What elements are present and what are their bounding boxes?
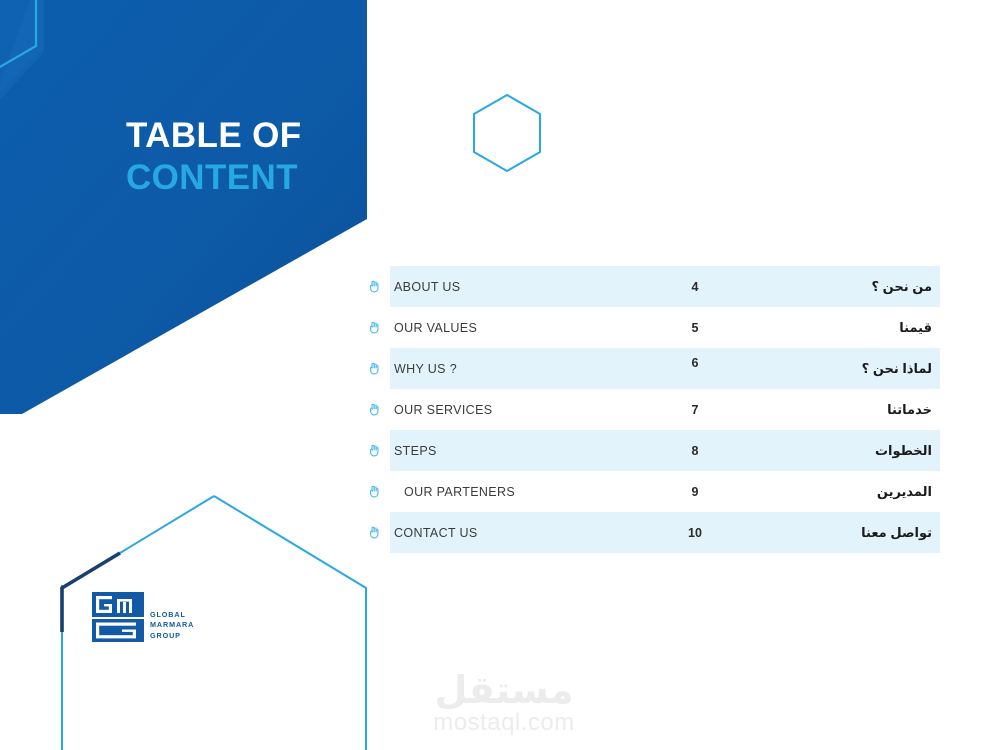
watermark-domain: mostaql.com (424, 710, 584, 736)
gmg-monogram-icon (92, 592, 144, 642)
pointing-hand-icon (366, 275, 390, 299)
table-row[interactable]: CONTACT US 10 تواصل معنا (366, 512, 940, 553)
pointing-hand-icon (366, 357, 390, 381)
pointing-hand-icon (366, 521, 390, 545)
toc-arabic-label: قيمنا (730, 320, 940, 336)
toc-english-label: OUR PARTENERS (390, 485, 660, 499)
page-title-line-1: TABLE OF (126, 118, 386, 153)
toc-arabic-label: تواصل معنا (730, 525, 940, 541)
pointing-hand-icon (366, 480, 390, 504)
page-title-line-2: CONTENT (126, 160, 386, 195)
toc-arabic-label: المديرين (730, 484, 940, 500)
slide-canvas: TABLE OF CONTENT ABOUT US 4 من نحن ؟ (0, 0, 1000, 750)
pointing-hand-icon (366, 316, 390, 340)
toc-page-number: 4 (660, 280, 730, 294)
table-row[interactable]: STEPS 8 الخطوات (366, 430, 940, 471)
toc-english-label: OUR SERVICES (390, 403, 660, 417)
hexagon-corner-outline-icon (0, 0, 36, 90)
table-of-contents: ABOUT US 4 من نحن ؟ OUR VALUES 5 قيمنا (366, 266, 940, 553)
pointing-hand-icon (366, 398, 390, 422)
toc-arabic-label: لماذا نحن ؟ (730, 361, 940, 377)
table-row[interactable]: ABOUT US 4 من نحن ؟ (366, 266, 940, 307)
panel-inner-wedge-shape (0, 0, 44, 92)
toc-arabic-label: من نحن ؟ (730, 279, 940, 295)
logo-line-1: GLOBAL (150, 610, 194, 620)
hexagon-large-outline-icon-topleft (120, 496, 214, 553)
panel-inner-wedge-shape-2 (0, 0, 44, 100)
toc-arabic-label: خدماتنا (730, 402, 940, 418)
pointing-hand-icon (366, 439, 390, 463)
hexagon-large-outline-icon-right (214, 496, 366, 750)
table-row[interactable]: OUR PARTENERS 9 المديرين (366, 471, 940, 512)
toc-page-number: 9 (660, 485, 730, 499)
toc-english-label: CONTACT US (390, 526, 660, 540)
toc-arabic-label: الخطوات (730, 443, 940, 459)
toc-english-label: WHY US ? (390, 362, 660, 376)
watermark-arabic: مستقل (424, 672, 584, 712)
toc-page-number: 5 (660, 321, 730, 335)
toc-page-number: 10 (660, 526, 730, 540)
toc-page-number: 7 (660, 403, 730, 417)
hexagon-outline-icon (474, 95, 540, 171)
table-row[interactable]: OUR SERVICES 7 خدماتنا (366, 389, 940, 430)
page-title: TABLE OF CONTENT (126, 118, 386, 195)
blue-panel-shape (0, 0, 367, 414)
toc-english-label: STEPS (390, 444, 660, 458)
logo-line-3: GROUP (150, 631, 194, 641)
toc-english-label: OUR VALUES (390, 321, 660, 335)
watermark: مستقل mostaql.com (424, 672, 584, 736)
toc-page-number: 8 (660, 444, 730, 458)
logo-wordmark: GLOBAL MARMARA GROUP (150, 610, 194, 641)
logo-line-2: MARMARA (150, 620, 194, 630)
company-logo: GLOBAL MARMARA GROUP (92, 592, 194, 642)
table-row[interactable]: WHY US ? 6 لماذا نحن ؟ (366, 348, 940, 389)
toc-english-label: ABOUT US (390, 280, 660, 294)
toc-page-number: 6 (660, 356, 730, 370)
table-row[interactable]: OUR VALUES 5 قيمنا (366, 307, 940, 348)
